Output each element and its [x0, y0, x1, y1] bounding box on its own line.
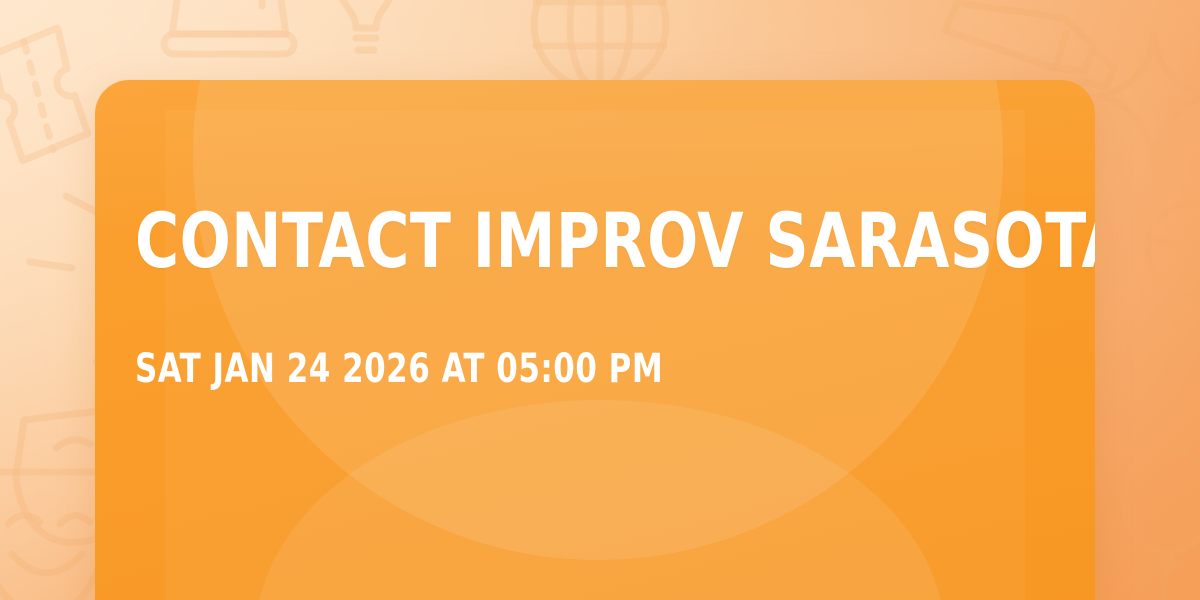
event-banner: Contact Improv Sarasota Sat Jan 24 2026 … — [0, 0, 1200, 600]
event-title: Contact Improv Sarasota — [135, 202, 1095, 280]
card-content: Contact Improv Sarasota Sat Jan 24 2026 … — [135, 80, 1055, 600]
event-card: Contact Improv Sarasota Sat Jan 24 2026 … — [95, 80, 1095, 600]
event-datetime: Sat Jan 24 2026 at 05:00 PM — [135, 348, 663, 390]
